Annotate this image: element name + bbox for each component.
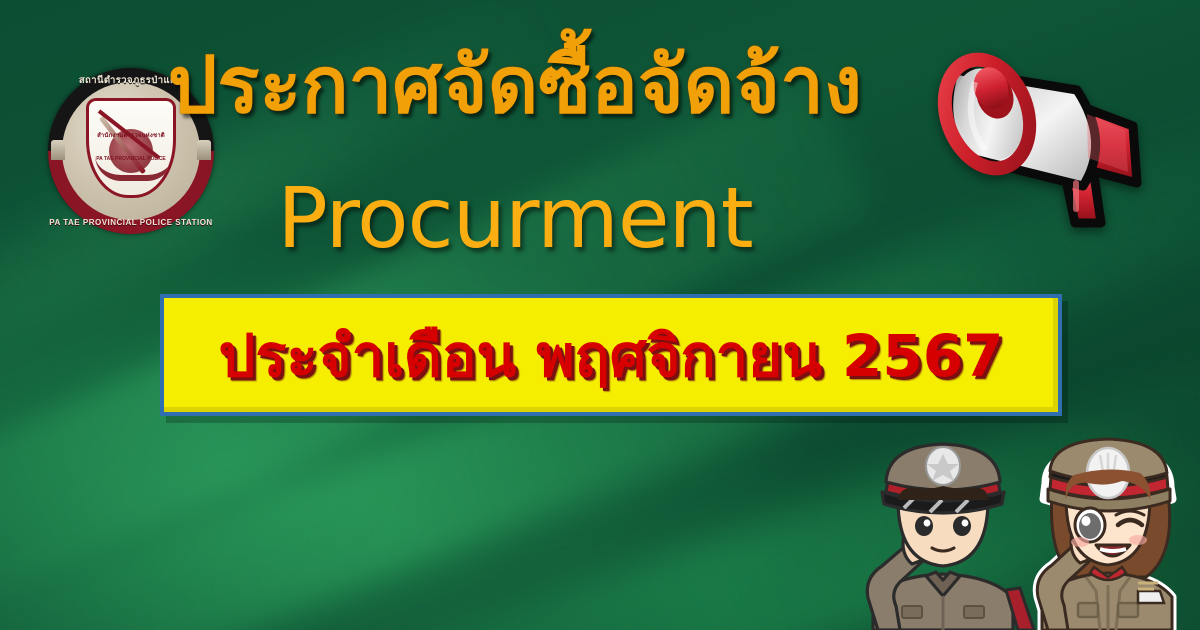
month-banner: ประจำเดือน พฤศจิกายน 2567 <box>160 294 1062 416</box>
month-banner-label: ประจำเดือน พฤศจิกายน 2567 <box>164 298 1058 412</box>
logo-shield-thai-text: สำนักงานตำรวจแห่งชาติ <box>48 130 214 140</box>
saluting-female-police-officer-icon <box>1012 425 1200 630</box>
procurement-announcement-poster: สำนักงานตำรวจแห่งชาติ PA TAE PROVINCIAL … <box>0 0 1200 630</box>
megaphone-icon <box>915 8 1195 238</box>
logo-shield-english-text: PA TAE PROVINCIAL POLICE <box>48 156 214 162</box>
